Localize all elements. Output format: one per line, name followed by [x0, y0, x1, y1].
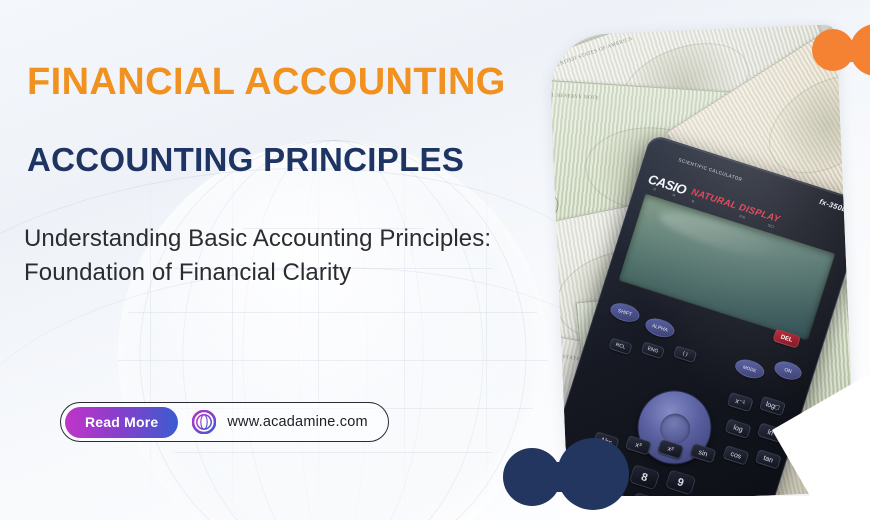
text-content-column: FINANCIAL ACCOUNTING ACCOUNTING PRINCIPL… [0, 0, 560, 520]
globe-icon [192, 410, 216, 434]
cta-pill-container: Read More www.acadamine.com [60, 402, 389, 442]
banner-root: THE UNITED STATES OF AMERICA 20 FEDERAL … [0, 0, 870, 520]
orange-peanut-shape [812, 24, 870, 76]
read-more-button[interactable]: Read More [65, 407, 178, 438]
subtitle-text: Understanding Basic Accounting Principle… [24, 222, 494, 290]
title-primary: FINANCIAL ACCOUNTING [27, 63, 506, 101]
site-url-text[interactable]: www.acadamine.com [227, 414, 367, 430]
title-secondary: ACCOUNTING PRINCIPLES [27, 143, 464, 176]
